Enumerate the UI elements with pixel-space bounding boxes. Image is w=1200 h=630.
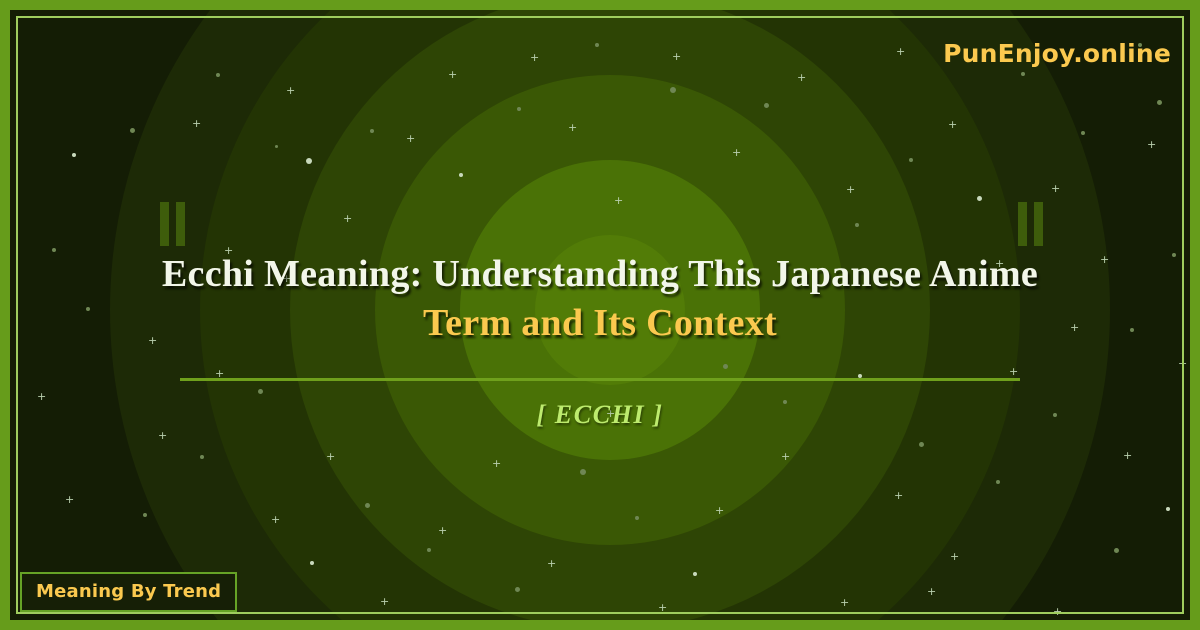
title-divider bbox=[180, 378, 1020, 381]
quote-bar bbox=[1034, 202, 1043, 246]
social-card-poster: ++++++++++++++++++++++++++++++++++++++++… bbox=[0, 0, 1200, 630]
card-content: PunEnjoy.online Ecchi Meaning: Understan… bbox=[10, 10, 1190, 620]
quote-bar bbox=[160, 202, 169, 246]
quote-bar bbox=[1018, 202, 1027, 246]
page-title: Ecchi Meaning: Understanding This Japane… bbox=[10, 250, 1190, 348]
open-quote-icon bbox=[160, 202, 185, 246]
keyword-tag: [ ECCHI ] bbox=[10, 400, 1190, 430]
quote-bar bbox=[176, 202, 185, 246]
close-quote-icon bbox=[1018, 202, 1043, 246]
title-line-secondary: Term and Its Context bbox=[10, 299, 1190, 348]
status-badge: Meaning By Trend bbox=[20, 572, 237, 612]
site-brand-name: PunEnjoy.online bbox=[943, 39, 1171, 68]
title-line-primary: Ecchi Meaning: Understanding This Japane… bbox=[10, 250, 1190, 299]
